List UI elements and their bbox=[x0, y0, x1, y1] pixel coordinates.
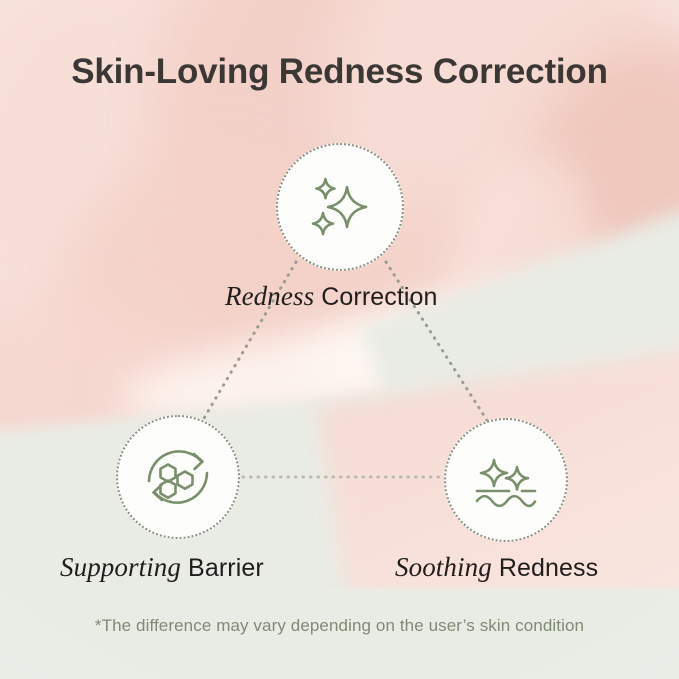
icon-circle bbox=[276, 143, 404, 271]
feature-emphasis: Redness bbox=[225, 281, 314, 311]
feature-emphasis: Soothing bbox=[395, 552, 492, 582]
feature-plain: Barrier bbox=[181, 554, 264, 582]
feature-node-redness-correction[interactable] bbox=[276, 143, 404, 271]
soothing-skin-icon bbox=[465, 439, 547, 521]
feature-label-soothing-redness: Soothing Redness bbox=[395, 552, 598, 583]
feature-plain: Correction bbox=[314, 283, 437, 311]
icon-circle bbox=[116, 415, 240, 539]
sparkles-icon bbox=[298, 165, 382, 249]
page-title: Skin-Loving Redness Correction bbox=[0, 52, 679, 92]
feature-plain: Redness bbox=[492, 554, 598, 582]
feature-node-soothing-redness[interactable] bbox=[444, 418, 568, 542]
molecule-renewal-icon bbox=[138, 437, 218, 517]
feature-label-supporting-barrier: Supporting Barrier bbox=[60, 552, 264, 583]
feature-label-redness-correction: Redness Correction bbox=[225, 281, 438, 312]
footnote-disclaimer: *The difference may vary depending on th… bbox=[0, 616, 679, 636]
feature-node-supporting-barrier[interactable] bbox=[116, 415, 240, 539]
feature-emphasis: Supporting bbox=[60, 552, 181, 582]
icon-circle bbox=[444, 418, 568, 542]
infographic-canvas: Skin-Loving Redness Correction Redness C… bbox=[0, 0, 679, 679]
